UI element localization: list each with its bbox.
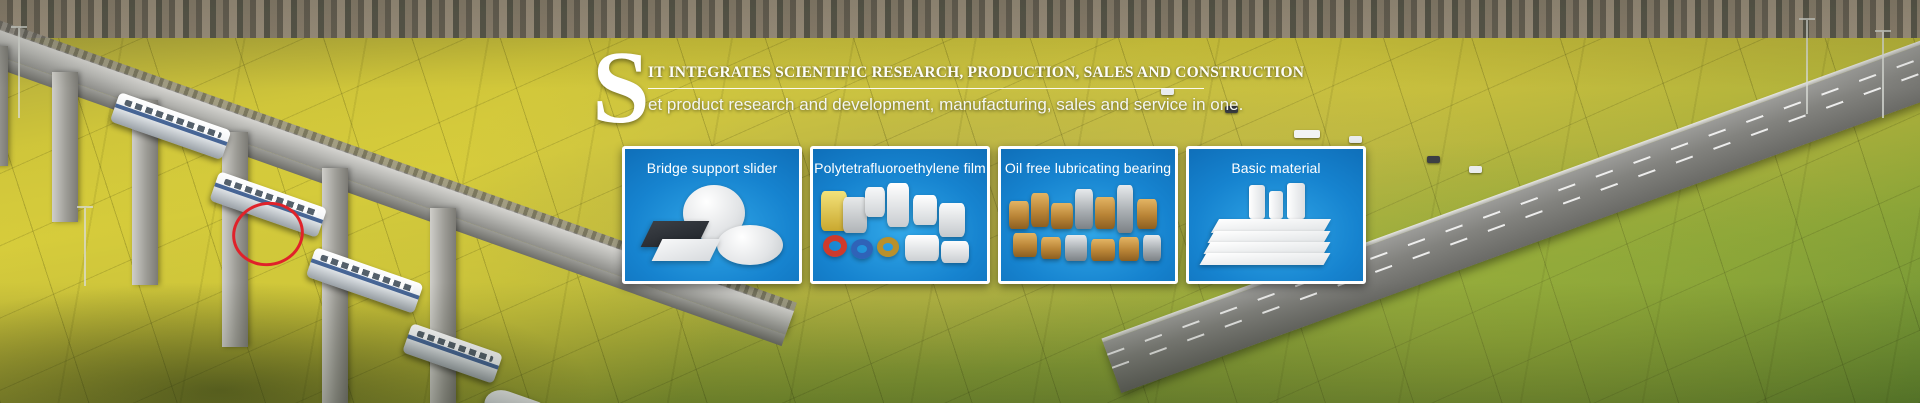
hero-headline: IT INTEGRATES SCIENTIFIC RESEARCH, PRODU… <box>648 64 1208 82</box>
ptfe-sheet <box>1200 253 1331 265</box>
train-car <box>402 323 503 384</box>
steel-sleeve <box>1143 235 1161 261</box>
slider-plate <box>652 239 721 261</box>
film-roll <box>843 197 867 233</box>
train-windows <box>320 254 415 292</box>
train-stripe <box>407 334 499 369</box>
ptfe-block <box>941 241 969 263</box>
card-artwork-slider-discs <box>625 181 799 277</box>
drop-cap-s: S <box>592 36 650 140</box>
product-card-list: Bridge support slider Polytetrafluoroeth… <box>622 146 1366 284</box>
card-artwork-bronze-bushings <box>1001 181 1175 277</box>
train-car <box>306 247 424 314</box>
bronze-bushing <box>1041 237 1061 259</box>
film-roll <box>887 183 909 227</box>
card-title: Polytetrafluoroethylene film <box>813 160 987 176</box>
colored-ring <box>877 237 899 257</box>
bronze-bushing <box>1119 237 1139 261</box>
train-windows <box>416 330 494 362</box>
utility-pole <box>18 26 20 118</box>
card-artwork-ptfe-rolls <box>813 181 987 277</box>
product-card-basic-material[interactable]: Basic material <box>1186 146 1366 284</box>
bronze-bushing <box>1013 233 1037 257</box>
utility-pole <box>1806 18 1808 114</box>
product-card-ptfe-film[interactable]: Polytetrafluoroethylene film <box>810 146 990 284</box>
train-stripe <box>311 258 420 299</box>
hero-subline: et product research and development, man… <box>648 95 1228 115</box>
film-roll <box>865 187 885 217</box>
vehicle <box>1427 156 1440 163</box>
viaduct-pier <box>0 46 8 166</box>
card-title: Basic material <box>1189 160 1363 176</box>
viaduct-pier <box>52 72 78 222</box>
bronze-bushing <box>1095 197 1115 229</box>
bronze-bushing <box>1137 199 1157 229</box>
vehicle <box>1469 166 1482 173</box>
steel-sleeve <box>1075 189 1093 229</box>
bronze-bushing <box>1051 203 1073 229</box>
divider-rule <box>648 88 1204 89</box>
product-card-oil-free-bearing[interactable]: Oil free lubricating bearing <box>998 146 1178 284</box>
ptfe-rod <box>1287 183 1305 219</box>
film-roll <box>913 195 937 225</box>
utility-pole <box>84 206 86 286</box>
hero-copy: S IT INTEGRATES SCIENTIFIC RESEARCH, PRO… <box>592 42 1212 134</box>
bronze-bushing <box>1009 201 1029 229</box>
product-card-bridge-support-slider[interactable]: Bridge support slider <box>622 146 802 284</box>
ptfe-block <box>905 235 939 261</box>
hero-banner: S IT INTEGRATES SCIENTIFIC RESEARCH, PRO… <box>0 0 1920 403</box>
bronze-bushing <box>1031 193 1049 227</box>
card-title: Bridge support slider <box>625 160 799 176</box>
bronze-bushing <box>1091 239 1115 261</box>
ptfe-disc <box>717 225 783 265</box>
ptfe-rod <box>1269 191 1283 219</box>
colored-ring <box>851 239 873 259</box>
colored-ring <box>823 235 847 257</box>
vehicle <box>1349 136 1362 143</box>
steel-sleeve <box>1065 235 1087 261</box>
card-artwork-basic-material <box>1189 181 1363 277</box>
vehicle <box>1294 130 1320 138</box>
film-roll <box>939 203 965 237</box>
utility-pole <box>1882 30 1884 118</box>
card-title: Oil free lubricating bearing <box>1001 160 1175 176</box>
steel-sleeve <box>1117 185 1133 233</box>
ptfe-rod <box>1249 185 1265 219</box>
